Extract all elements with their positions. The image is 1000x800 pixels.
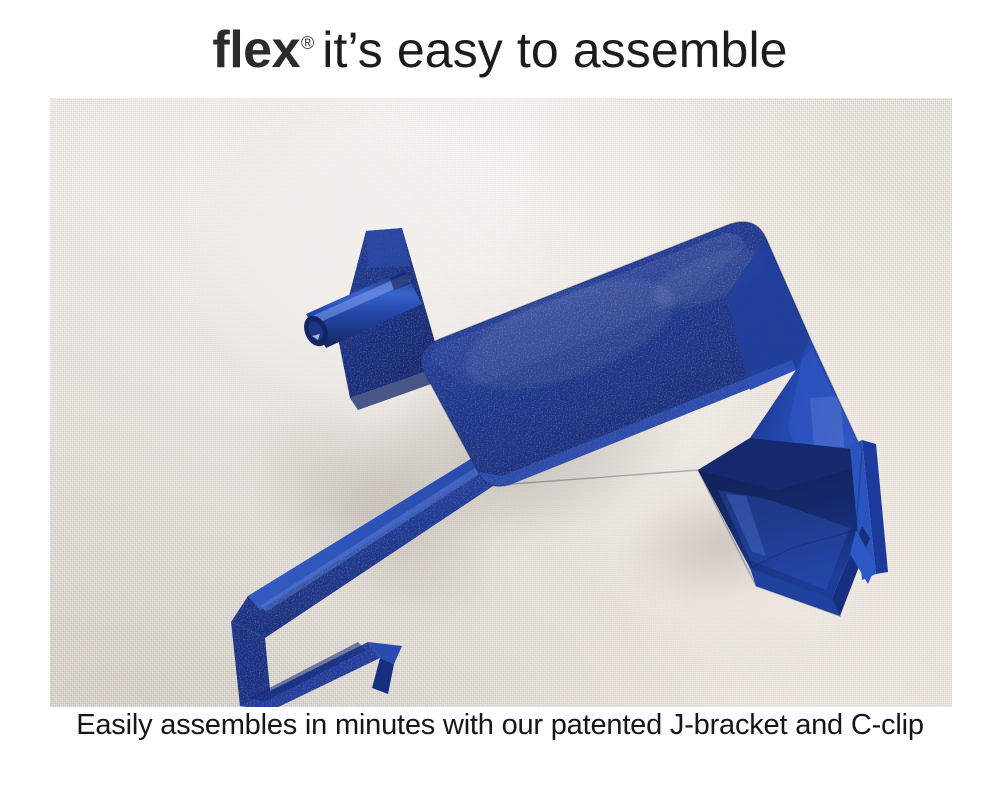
bracket-illustration xyxy=(50,98,952,707)
brand-wordmark: flex xyxy=(212,21,300,79)
product-photo xyxy=(50,98,952,707)
page-title: flex®it’s easy to assemble xyxy=(0,24,1000,76)
headline-tagline: it’s easy to assemble xyxy=(322,22,787,78)
photo-caption: Easily assembles in minutes with our pat… xyxy=(0,709,1000,742)
slide-root: flex®it’s easy to assemble xyxy=(0,0,1000,800)
registered-trademark-icon: ® xyxy=(301,33,314,53)
